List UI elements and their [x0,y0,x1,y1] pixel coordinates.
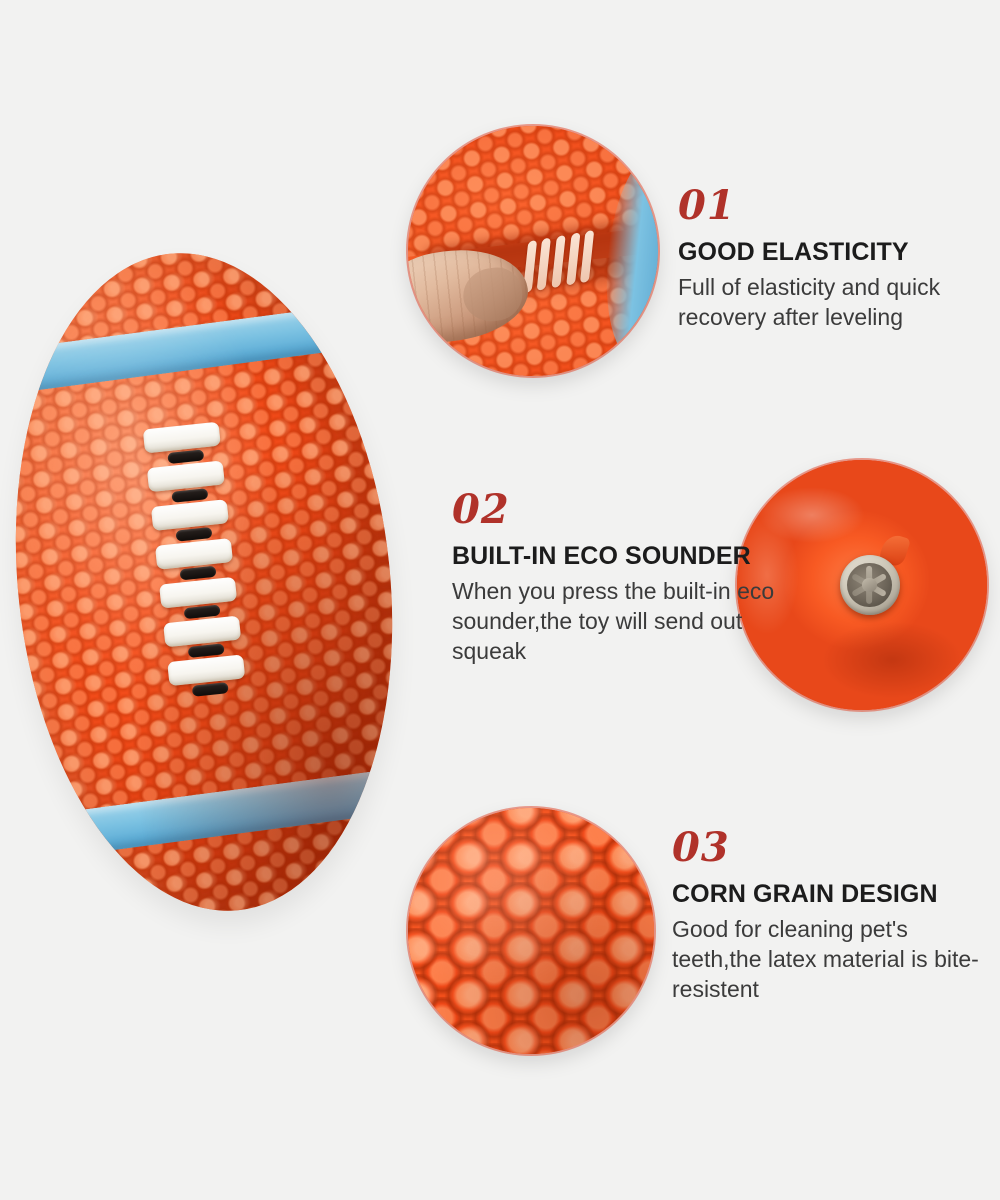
lace-segment [167,654,245,686]
squeaker-hub [862,578,876,592]
lace-segment [147,460,225,492]
lace-segment [551,235,565,288]
feature-number: 02 [452,490,782,530]
feature-description: When you press the built-in eco sounder,… [452,577,782,667]
feature-number: 01 [678,186,978,226]
lace-segment [580,230,594,283]
feature-title: BUILT-IN ECO SOUNDER [452,542,782,570]
lace-segment [151,499,229,531]
lace-segment [537,237,551,290]
feature-block-built-in-eco-sounder: 02 BUILT-IN ECO SOUNDER When you press t… [452,490,782,667]
feature-title: GOOD ELASTICITY [678,238,978,266]
squeaker-valve [840,555,900,615]
main-product-image [18,252,390,912]
lace-segment [159,577,237,609]
feature-description: Full of elasticity and quick recovery af… [678,273,978,333]
lace-segment [155,538,233,570]
macro-shading [408,808,654,1054]
feature-image-corn-grain-design [408,808,654,1054]
squeaker-hole [847,563,891,607]
feature-title: CORN GRAIN DESIGN [672,880,990,908]
lace-gap [192,682,229,697]
lace-segment [163,616,241,648]
infographic-canvas: 01 GOOD ELASTICITY Full of elasticity an… [0,0,1000,1200]
lace-segment [566,232,580,285]
feature-block-corn-grain-design: 03 CORN GRAIN DESIGN Good for cleaning p… [672,828,990,1005]
feature-number: 03 [672,828,990,868]
feature-block-good-elasticity: 01 GOOD ELASTICITY Full of elasticity an… [678,186,978,333]
feature-image-good-elasticity [408,126,658,376]
football-rotation-wrapper [0,234,423,929]
feature-description: Good for cleaning pet's teeth,the latex … [672,915,990,1005]
